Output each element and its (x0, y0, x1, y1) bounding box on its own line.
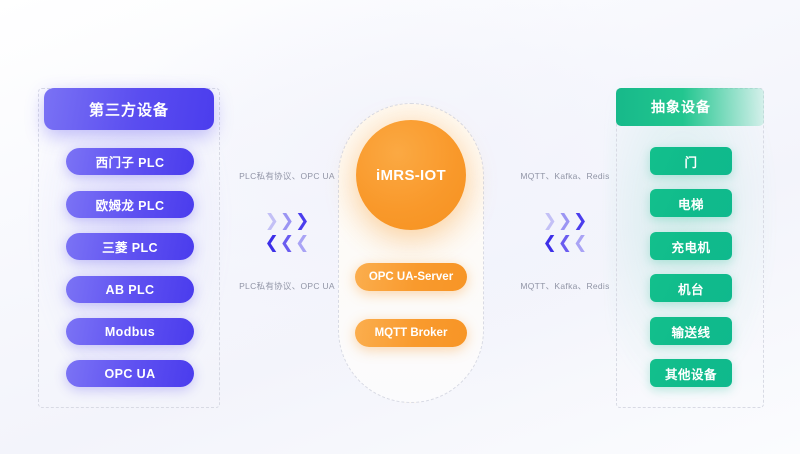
right-item-other-devices[interactable]: 其他设备 (650, 359, 732, 387)
architecture-diagram: 第三方设备 西门子 PLC 欧姆龙 PLC 三菱 PLC AB PLC Modb… (0, 0, 800, 454)
left-item-siemens-plc[interactable]: 西门子 PLC (66, 148, 194, 175)
right-item-elevator[interactable]: 电梯 (650, 189, 732, 217)
left-item-ab-plc[interactable]: AB PLC (66, 276, 194, 303)
right-column-header: 抽象设备 (616, 88, 764, 126)
hub-imrs-iot[interactable]: iMRS-IOT (356, 120, 466, 230)
service-opc-ua-server[interactable]: OPC UA-Server (355, 263, 467, 291)
left-connector-bottom-label: PLC私有协议、OPC UA (222, 280, 352, 292)
left-column-header: 第三方设备 (44, 88, 214, 130)
right-connector-bottom-label: MQTT、Kafka、Redis (500, 280, 630, 292)
right-item-charger[interactable]: 充电机 (650, 232, 732, 260)
chevron-left-triple-icon: ❮❮❮ (500, 231, 630, 253)
chevron-right-triple-icon: ❯❯❯ (500, 209, 630, 231)
left-item-modbus[interactable]: Modbus (66, 318, 194, 345)
left-item-omron-plc[interactable]: 欧姆龙 PLC (66, 191, 194, 218)
right-item-conveyor[interactable]: 输送线 (650, 317, 732, 345)
left-item-opc-ua[interactable]: OPC UA (66, 360, 194, 387)
left-connector: PLC私有协议、OPC UA ❯❯❯ ❮❮❮ PLC私有协议、OPC UA (222, 170, 352, 292)
service-mqtt-broker[interactable]: MQTT Broker (355, 319, 467, 347)
chevron-right-triple-icon: ❯❯❯ (222, 209, 352, 231)
chevron-left-triple-icon: ❮❮❮ (222, 231, 352, 253)
right-connector-top-label: MQTT、Kafka、Redis (500, 170, 630, 182)
right-connector: MQTT、Kafka、Redis ❯❯❯ ❮❮❮ MQTT、Kafka、Redi… (500, 170, 630, 292)
left-item-mitsubishi-plc[interactable]: 三菱 PLC (66, 233, 194, 260)
right-item-machine[interactable]: 机台 (650, 274, 732, 302)
left-connector-top-label: PLC私有协议、OPC UA (222, 170, 352, 182)
right-item-door[interactable]: 门 (650, 147, 732, 175)
